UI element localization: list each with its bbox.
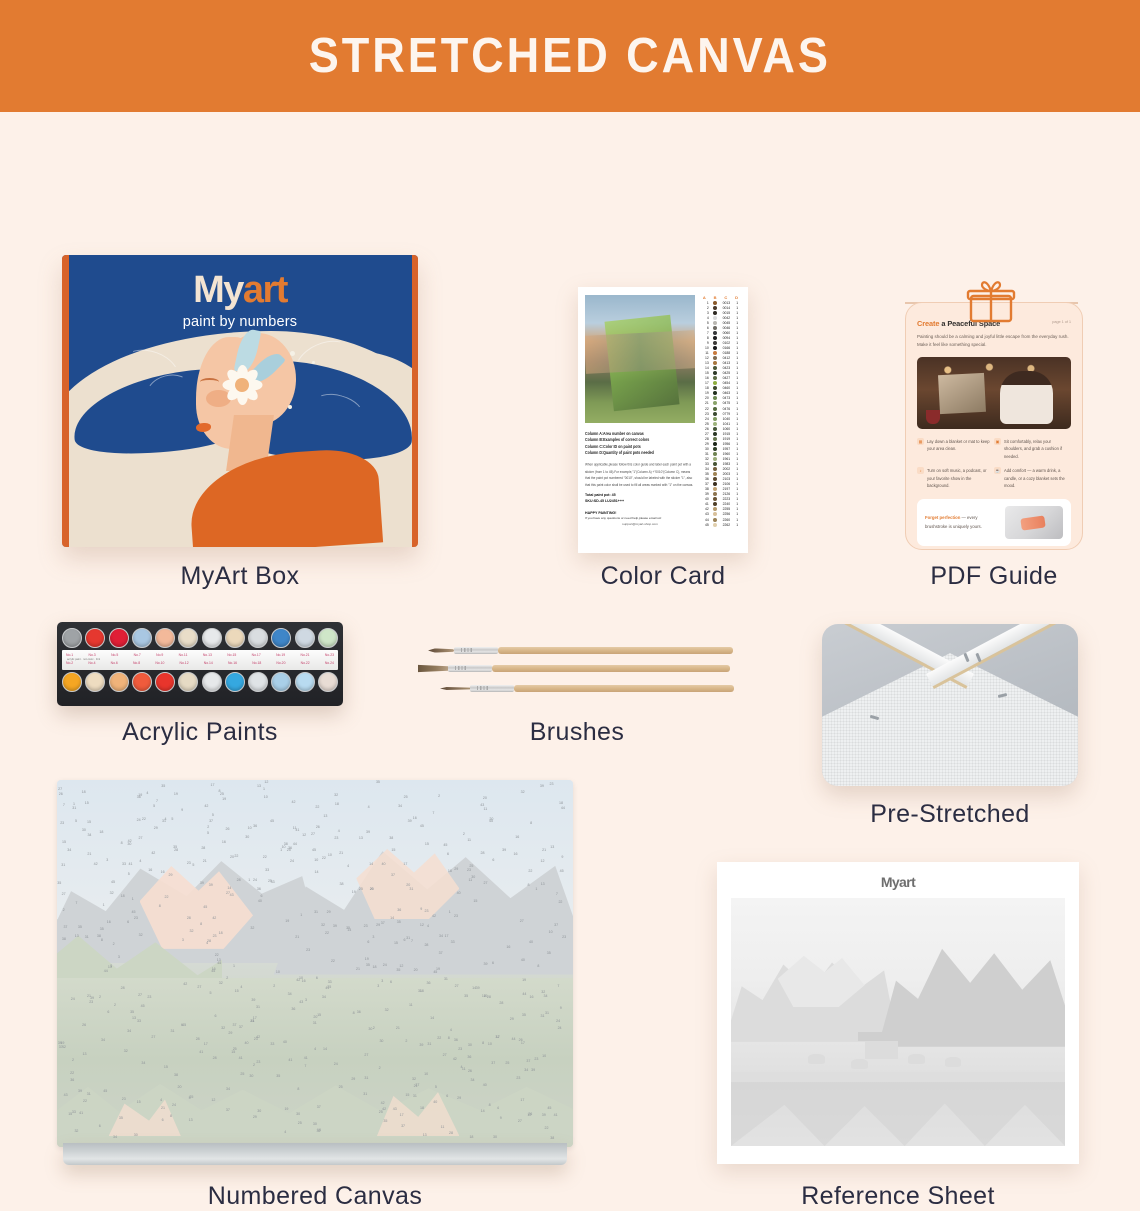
canvas-area-number: 39: [209, 883, 213, 887]
row-quantity: 1: [733, 371, 741, 375]
canvas-area-number: 32: [139, 933, 143, 937]
row-color-id: 0779: [722, 412, 732, 416]
canvas-area-number: 26: [226, 827, 230, 831]
canvas-area-number: 2: [379, 1066, 381, 1070]
row-swatch-cell: [711, 351, 720, 355]
canvas-area-number: 7: [557, 984, 559, 988]
canvas-area-number: 28: [201, 846, 205, 850]
paint-pot: [62, 672, 82, 692]
row-quantity: 1: [733, 477, 741, 481]
canvas-area-number: 39: [476, 986, 480, 990]
canvas-area-number: 15: [62, 840, 66, 844]
canvas-area-number: 34: [87, 833, 91, 837]
canvas-area-number: 42: [291, 800, 295, 804]
row-area-number: 43: [700, 512, 709, 516]
canvas-area-number: 36: [454, 1038, 458, 1042]
canvas-area-number: 42: [453, 1057, 457, 1061]
canvas-area-number: 1: [300, 913, 302, 917]
chair-icon: ▣: [994, 438, 1001, 445]
canvas-area-number: 21: [295, 935, 299, 939]
canvas-area-number: 5: [210, 991, 212, 995]
row-quantity: 1: [733, 366, 741, 370]
canvas-area-number: 20: [178, 1085, 182, 1089]
pdf-tip: ☕Add comfort — a warm drink, a candle, o…: [994, 467, 1071, 490]
canvas-area-number: 39: [200, 881, 204, 885]
row-area-number: 18: [700, 386, 709, 390]
row-quantity: 1: [733, 396, 741, 400]
box-left-edge: [62, 255, 69, 547]
paint-pot: [225, 672, 245, 692]
row-color-id: 0094: [722, 336, 732, 340]
canvas-area-number: 23: [334, 836, 338, 840]
canvas-area-number: 21: [542, 848, 546, 852]
brush-handle-3: [514, 685, 734, 692]
pdf-tip-text: Add comfort — a warm drink, a candle, or…: [1004, 467, 1067, 490]
ref-cabin: [865, 1039, 898, 1059]
canvas-area-number: 35: [173, 845, 177, 849]
caption-pre-stretched: Pre-Stretched: [822, 800, 1078, 829]
row-area-number: 37: [700, 482, 709, 486]
canvas-area-number: 22: [234, 854, 238, 858]
canvas-area-number: 18: [335, 802, 339, 806]
canvas-area-number: 16: [212, 967, 216, 971]
canvas-area-number: 23: [89, 1000, 93, 1004]
canvas-area-number: 22: [263, 855, 267, 859]
canvas-area-number: 5: [207, 831, 209, 835]
canvas-area-number: 36: [357, 1010, 361, 1014]
canvas-area-number: 34: [322, 995, 326, 999]
canvas-area-number: 17: [204, 1042, 208, 1046]
canvas-area-number: 4: [139, 859, 141, 863]
canvas-area-number: 4: [427, 924, 429, 928]
canvas-area-number: 28: [237, 878, 241, 882]
canvas-area-number: 4: [240, 985, 242, 989]
canvas-area-number: 11: [409, 1003, 413, 1007]
canvas-area-number: 44: [511, 1037, 515, 1041]
canvas-area-number: 43: [393, 1107, 397, 1111]
row-swatch-cell: [711, 336, 720, 340]
canvas-area-number: 35: [346, 926, 350, 930]
canvas-area-number: 8: [101, 938, 103, 942]
canvas-area-number: 34: [439, 934, 443, 938]
canvas-area-number: 23: [516, 1076, 520, 1080]
canvas-area-number: 30: [257, 1109, 261, 1113]
row-area-number: 32: [700, 457, 709, 461]
canvas-area-number: 29: [376, 923, 380, 927]
paint-pot: [132, 628, 152, 648]
brushes-image: [418, 640, 736, 710]
row-color-id: 0045: [722, 321, 732, 325]
canvas-area-number: 10: [542, 1054, 546, 1058]
canvas-area-number: 29: [228, 1031, 232, 1035]
row-area-number: 25: [700, 422, 709, 426]
canvas-area-number: 4: [284, 1130, 286, 1134]
caption-numbered-canvas: Numbered Canvas: [57, 1182, 573, 1211]
canvas-area-number: 21: [203, 859, 207, 863]
paint-number-label: No.6: [111, 661, 118, 665]
canvas-area-number: 32: [219, 981, 223, 985]
canvas-area-number: 33: [137, 1019, 141, 1023]
canvas-area-number: 27: [518, 1119, 522, 1123]
canvas-area-number: 31: [540, 1014, 544, 1018]
paint-label-strip: No.1No.3No.5No.7No.9No.11No.13No.15No.17…: [62, 650, 338, 670]
canvas-area-number: 33: [451, 940, 455, 944]
canvas-area-number: 29: [351, 1077, 355, 1081]
col-header-d: D: [732, 295, 741, 300]
paint-number-label: No.8: [133, 661, 140, 665]
callout-accent: Forget perfection: [925, 515, 960, 520]
col-header-b: B: [711, 295, 720, 300]
canvas-area-number: 27: [226, 891, 230, 895]
row-area-number: 24: [700, 417, 709, 421]
canvas-area-number: 45: [103, 1089, 107, 1093]
canvas-area-number: 25: [220, 792, 224, 796]
row-quantity: 1: [733, 381, 741, 385]
row-area-number: 44: [700, 518, 709, 522]
canvas-area-number: 45: [312, 848, 316, 852]
col-header-a: A: [700, 295, 709, 300]
canvas-area-number: 28: [196, 1037, 200, 1041]
paint-pot-row-top: [62, 628, 338, 648]
canvas-area-number: 23: [122, 1097, 126, 1101]
row-quantity: 1: [733, 452, 741, 456]
row-swatch-cell: [711, 396, 720, 400]
canvas-area-number: 29: [454, 867, 458, 871]
row-quantity: 1: [733, 427, 741, 431]
canvas-area-number: 28: [480, 851, 484, 855]
sparkle-dot-3: [288, 405, 292, 409]
canvas-area-number: 34: [101, 1038, 105, 1042]
canvas-area-number: 37: [491, 1061, 495, 1065]
row-color-id: 1957: [722, 447, 732, 451]
canvas-area-number: 8: [530, 821, 532, 825]
canvas-area-number: 36: [253, 824, 257, 828]
brush-ferrule-1: [454, 647, 498, 655]
legend-line-d: Column D:Quantity of paint pots needed: [585, 449, 695, 457]
canvas-area-number: 41: [288, 1058, 292, 1062]
paint-pot: [109, 672, 129, 692]
canvas-area-number: 18: [82, 790, 86, 794]
canvas-area-number: 1: [263, 787, 265, 791]
canvas-area-number: 33: [122, 862, 126, 866]
canvas-area-number: 4: [146, 791, 148, 795]
paint-number-label: No.18: [252, 661, 261, 665]
canvas-area-number: 2: [405, 1039, 407, 1043]
gift-icon: [963, 280, 1019, 324]
canvas-area-number: 40: [258, 899, 262, 903]
canvas-area-number: 2: [273, 984, 275, 988]
canvas-area-number: 45: [141, 1004, 145, 1008]
canvas-area-number: 11: [293, 826, 297, 830]
canvas-area-number: 13: [257, 784, 261, 788]
row-color-id: 0014: [722, 306, 732, 310]
canvas-area-number: 44: [104, 969, 108, 973]
paint-pot: [85, 628, 105, 648]
paint-pot: [248, 672, 268, 692]
canvas-area-number: 45: [217, 961, 221, 965]
paint-number-label: No.2: [66, 661, 73, 665]
canvas-area-number: 2: [113, 942, 115, 946]
canvas-area-number: 40: [283, 1040, 287, 1044]
canvas-area-number: 18: [99, 830, 103, 834]
row-swatch-cell: [711, 401, 720, 405]
box-logo: Myart paint by numbers: [62, 271, 418, 330]
canvas-area-number: 2: [373, 1026, 375, 1030]
pdf-heading-accent: Create: [917, 319, 939, 328]
canvas-area-number: 6: [404, 938, 406, 942]
row-swatch-cell: [711, 381, 720, 385]
canvas-area-number: 14: [315, 870, 319, 874]
canvas-area-number: 39: [419, 1043, 423, 1047]
row-area-number: 10: [700, 346, 709, 350]
row-color-id: 2126: [722, 492, 732, 496]
canvas-area-number: 31: [85, 935, 89, 939]
canvas-area-number: 37: [63, 925, 67, 929]
row-color-id: 0423: [722, 366, 732, 370]
canvas-area-number: 45: [203, 905, 207, 909]
logo-my-text: My: [193, 269, 243, 311]
canvas-area-number: 22: [325, 931, 329, 935]
paint-number-label: No.16: [228, 661, 237, 665]
pre-stretched-image: [822, 624, 1078, 786]
numbered-canvas-face: 2524491831342342393471440211416184214628…: [57, 780, 573, 1147]
canvas-area-number: 11: [462, 1067, 466, 1071]
row-area-number: 23: [700, 412, 709, 416]
canvas-area-number: 6: [492, 858, 494, 862]
row-area-number: 14: [700, 366, 709, 370]
canvas-area-number: 21: [161, 1106, 165, 1110]
brush-ferrule-2: [448, 665, 492, 673]
canvas-area-number: 14: [323, 1047, 327, 1051]
row-quantity: 1: [733, 326, 741, 330]
row-color-id: 0188: [722, 351, 732, 355]
paint-pot: [62, 628, 82, 648]
row-quantity: 1: [733, 512, 741, 516]
color-card-total: Total paint pot: 45 SKU:SD-45 LU2451+++: [585, 492, 695, 505]
canvas-area-number: 15: [405, 1093, 409, 1097]
row-swatch-cell: [711, 467, 720, 471]
canvas-area-number: 32: [190, 929, 194, 933]
canvas-area-number: 13: [541, 882, 545, 886]
row-quantity: 1: [733, 492, 741, 496]
canvas-area-number: 42: [94, 862, 98, 866]
row-color-id: 0015: [722, 311, 732, 315]
canvas-area-number: 22: [315, 805, 319, 809]
canvas-area-number: 14: [430, 1016, 434, 1020]
canvas-area-number: 40: [244, 1041, 248, 1045]
canvas-area-number: 24: [253, 878, 257, 882]
canvas-area-number: 23: [562, 935, 566, 939]
canvas-area-number: 25: [298, 1121, 302, 1125]
canvas-area-number: 3: [372, 935, 374, 939]
canvas-area-number: 37: [239, 1025, 243, 1029]
row-swatch-cell: [711, 422, 720, 426]
canvas-area-number: 38: [550, 1136, 554, 1140]
canvas-area-number: 8: [121, 841, 123, 845]
canvas-area-number: 39: [542, 1113, 546, 1117]
canvas-area-number: 31: [313, 1021, 317, 1025]
paint-pot: [202, 672, 222, 692]
row-area-number: 2: [700, 306, 709, 310]
row-area-number: 41: [700, 502, 709, 506]
canvas-area-number: 35: [396, 968, 400, 972]
canvas-area-number: 19: [222, 797, 226, 801]
canvas-area-number: 2: [72, 1058, 74, 1062]
canvas-area-number: 21: [484, 994, 488, 998]
canvas-area-number: 16: [222, 840, 226, 844]
canvas-area-number: 15: [473, 899, 477, 903]
paint-label-numbers-bottom: No.2No.4No.6No.8No.10No.12No.14No.16No.1…: [66, 661, 334, 665]
canvas-area-number: 16: [514, 852, 518, 856]
canvas-area-number: 19: [284, 1107, 288, 1111]
row-quantity: 1: [733, 331, 741, 335]
canvas-area-number: 40: [382, 862, 386, 866]
paint-number-label: No.24: [325, 661, 334, 665]
canvas-area-number: 10: [282, 845, 286, 849]
row-swatch-cell: [711, 507, 720, 511]
canvas-area-number: 23: [467, 868, 471, 872]
canvas-area-number: 41: [79, 1111, 83, 1115]
canvas-area-number: 8: [170, 1114, 172, 1118]
canvas-area-number: 10: [328, 853, 332, 857]
canvas-area-number: 41: [239, 1056, 243, 1060]
canvas-area-number: 25: [379, 1110, 383, 1114]
canvas-area-number: 10: [299, 976, 303, 980]
canvas-area-number: 23: [254, 1037, 258, 1041]
canvas-area-number: 23: [458, 1047, 462, 1051]
canvas-area-number: 34: [544, 994, 548, 998]
canvas-area-number: 31: [409, 887, 413, 891]
row-color-id: 1983: [722, 462, 732, 466]
canvas-area-number: 45: [131, 910, 135, 914]
canvas-area-number: 17: [520, 1098, 524, 1102]
paint-number-label: No.11: [179, 653, 188, 657]
row-swatch-cell: [711, 306, 720, 310]
canvas-area-number: 34: [226, 1087, 230, 1091]
canvas-area-number: 11: [483, 807, 487, 811]
canvas-area-number: 6: [492, 961, 494, 965]
canvas-area-number: 32: [250, 926, 254, 930]
canvas-area-number: 5: [435, 1085, 437, 1089]
row-swatch-cell: [711, 512, 720, 516]
canvas-area-number: 28: [207, 939, 211, 943]
paint-pot: [271, 672, 291, 692]
canvas-area-number: 33: [265, 868, 269, 872]
canvas-area-number: 23: [187, 861, 191, 865]
row-quantity: 1: [733, 417, 741, 421]
canvas-area-number: 15: [235, 989, 239, 993]
canvas-area-number: 6: [316, 976, 318, 980]
canvas-area-number: 28: [213, 1056, 217, 1060]
canvas-area-number: 31: [418, 989, 422, 993]
canvas-area-number: 17: [403, 862, 407, 866]
row-quantity: 1: [733, 301, 741, 305]
caption-pdf-guide: PDF Guide: [875, 562, 1113, 591]
canvas-area-number: 13: [108, 965, 112, 969]
canvas-area-number: 31: [87, 1092, 91, 1096]
canvas-area-number: 37: [401, 1124, 405, 1128]
canvas-area-number: 23: [306, 948, 310, 952]
canvas-area-number: 27: [151, 1035, 155, 1039]
canvas-area-number: 15: [68, 1112, 72, 1116]
caption-brushes: Brushes: [418, 718, 736, 747]
canvas-area-number: 35: [547, 951, 551, 955]
canvas-area-number: 19: [352, 890, 356, 894]
row-swatch-cell: [711, 301, 720, 305]
paint-number-label: No.17: [252, 653, 261, 657]
canvas-area-number: 34: [67, 848, 71, 852]
color-card-photo: [585, 295, 695, 423]
canvas-area-number: 37: [233, 1023, 237, 1027]
canvas-area-number: 43: [230, 893, 234, 897]
canvas-area-number: 6: [367, 940, 369, 944]
cloth-icon: ▦: [917, 438, 924, 445]
canvas-area-number: 17: [496, 1035, 500, 1039]
row-quantity: 1: [733, 447, 741, 451]
canvas-area-number: 2: [463, 832, 465, 836]
canvas-area-number: 23: [454, 914, 458, 918]
canvas-area-number: 21: [87, 852, 91, 856]
row-quantity: 1: [733, 442, 741, 446]
row-area-number: 39: [700, 492, 709, 496]
canvas-area-number: 1: [103, 903, 105, 907]
ref-cabin-roof: [858, 1032, 905, 1041]
canvas-area-number: 15: [137, 1100, 141, 1104]
brush-handle-1: [498, 647, 733, 654]
canvas-area-number: 5: [128, 872, 130, 876]
canvas-area-number: 9: [500, 1116, 502, 1120]
canvas-area-number: 32: [521, 790, 525, 794]
canvas-area-number: 9: [420, 907, 422, 911]
color-table-row: 4522621: [700, 522, 741, 527]
canvas-area-number: 15: [317, 1013, 321, 1017]
canvas-area-number: 36: [257, 887, 261, 891]
canvas-area-number: 7: [156, 799, 158, 803]
canvas-area-number: 37: [554, 923, 558, 927]
canvas-area-number: 8: [297, 1087, 299, 1091]
row-swatch-cell: [711, 497, 720, 501]
row-color-id: 2223: [722, 497, 732, 501]
paint-pot: [178, 628, 198, 648]
support-email[interactable]: support@myart-shop.com: [585, 522, 695, 528]
canvas-area-number: 7: [63, 803, 65, 807]
canvas-area-number: 12: [420, 923, 424, 927]
canvas-area-number: 22: [83, 1099, 87, 1103]
row-color-id: 0042: [722, 316, 732, 320]
row-swatch-cell: [711, 417, 720, 421]
canvas-area-number: 39: [251, 998, 255, 1002]
canvas-area-number: 5: [171, 817, 173, 821]
row-swatch-cell: [711, 346, 720, 350]
row-swatch-cell: [711, 432, 720, 436]
canvas-area-number: 36: [467, 1055, 471, 1059]
canvas-area-number: 29: [154, 826, 158, 830]
canvas-area-number: 45: [560, 869, 564, 873]
row-color-id: 1040: [722, 417, 732, 421]
canvas-area-number: 33: [271, 880, 275, 884]
canvas-area-number: 34: [524, 1068, 528, 1072]
pdf-page-label: page 1 of 1: [1052, 319, 1071, 324]
canvas-area-number: 8: [200, 922, 202, 926]
canvas-area-number: 35: [376, 780, 380, 784]
row-swatch-cell: [711, 427, 720, 431]
canvas-area-number: 28: [499, 1001, 503, 1005]
canvas-area-number: 35: [464, 994, 468, 998]
canvas-area-number: 31: [363, 1092, 367, 1096]
canvas-area-number: 27: [520, 919, 524, 923]
paint-number-label: No.12: [180, 661, 189, 665]
row-area-number: 11: [700, 351, 709, 355]
